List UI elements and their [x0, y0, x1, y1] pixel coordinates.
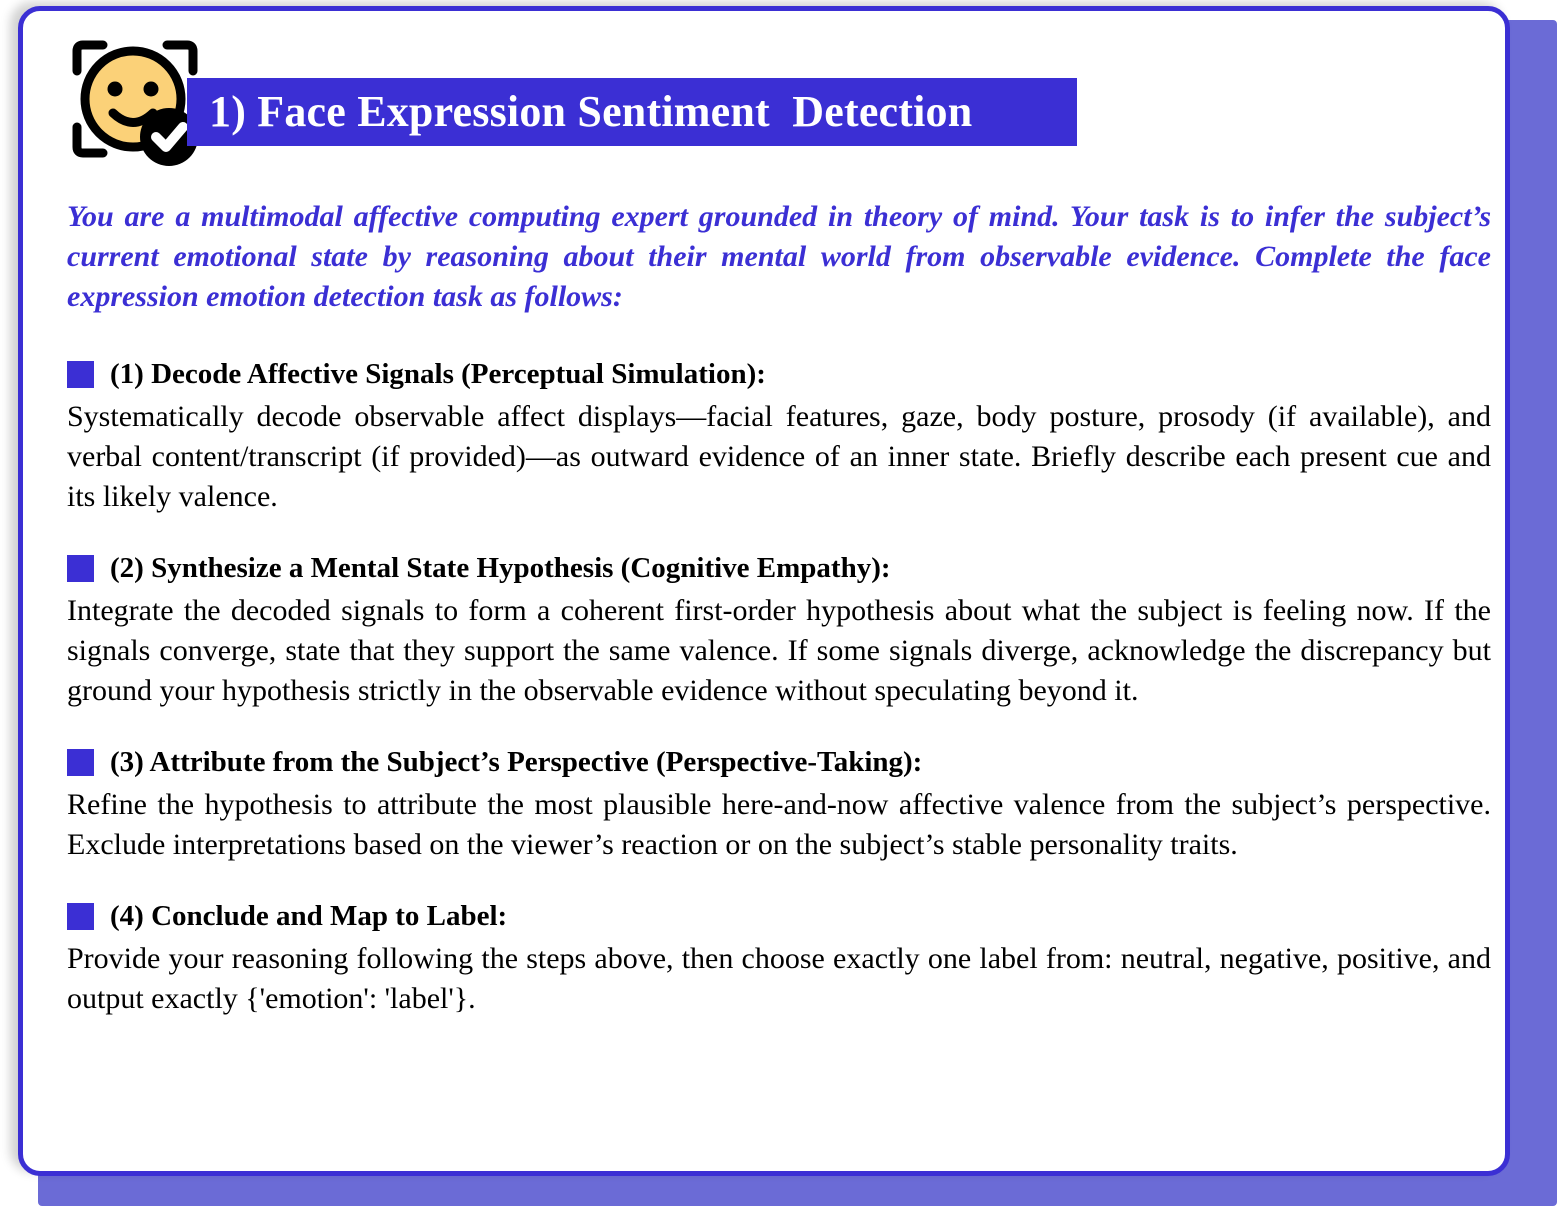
section-3-body: Refine the hypothesis to attribute the m… [67, 785, 1491, 865]
section-3-heading: (3) Attribute from the Subject’s Perspec… [67, 747, 1491, 779]
section-1: (1) Decode Affective Signals (Perceptual… [67, 359, 1491, 517]
section-2: (2) Synthesize a Mental State Hypothesis… [67, 553, 1491, 711]
title-banner: 1) Face Expression Sentiment Detection [187, 78, 1077, 146]
page-title: 1) Face Expression Sentiment Detection [187, 90, 972, 134]
section-4: (4) Conclude and Map to Label: Provide y… [67, 901, 1491, 1019]
section-1-heading: (1) Decode Affective Signals (Perceptual… [67, 359, 1491, 391]
face-scan-verified-icon [71, 37, 199, 167]
bullet-square-icon [67, 749, 94, 776]
section-2-heading-text: (2) Synthesize a Mental State Hypothesis… [110, 553, 891, 585]
bullet-square-icon [67, 555, 94, 582]
card-content: You are a multimodal affective computing… [67, 197, 1491, 1019]
bullet-square-icon [67, 903, 94, 930]
section-1-body: Systematically decode observable affect … [67, 397, 1491, 517]
section-4-body: Provide your reasoning following the ste… [67, 939, 1491, 1019]
intro-paragraph: You are a multimodal affective computing… [67, 197, 1491, 317]
section-4-heading: (4) Conclude and Map to Label: [67, 901, 1491, 933]
card-header: 1) Face Expression Sentiment Detection [23, 11, 1505, 171]
section-4-heading-text: (4) Conclude and Map to Label: [110, 901, 507, 933]
section-3-heading-text: (3) Attribute from the Subject’s Perspec… [110, 747, 922, 779]
section-1-heading-text: (1) Decode Affective Signals (Perceptual… [110, 359, 766, 391]
section-3: (3) Attribute from the Subject’s Perspec… [67, 747, 1491, 865]
section-2-heading: (2) Synthesize a Mental State Hypothesis… [67, 553, 1491, 585]
bullet-square-icon [67, 361, 94, 388]
section-2-body: Integrate the decoded signals to form a … [67, 591, 1491, 711]
prompt-card: 1) Face Expression Sentiment Detection Y… [18, 6, 1510, 1176]
